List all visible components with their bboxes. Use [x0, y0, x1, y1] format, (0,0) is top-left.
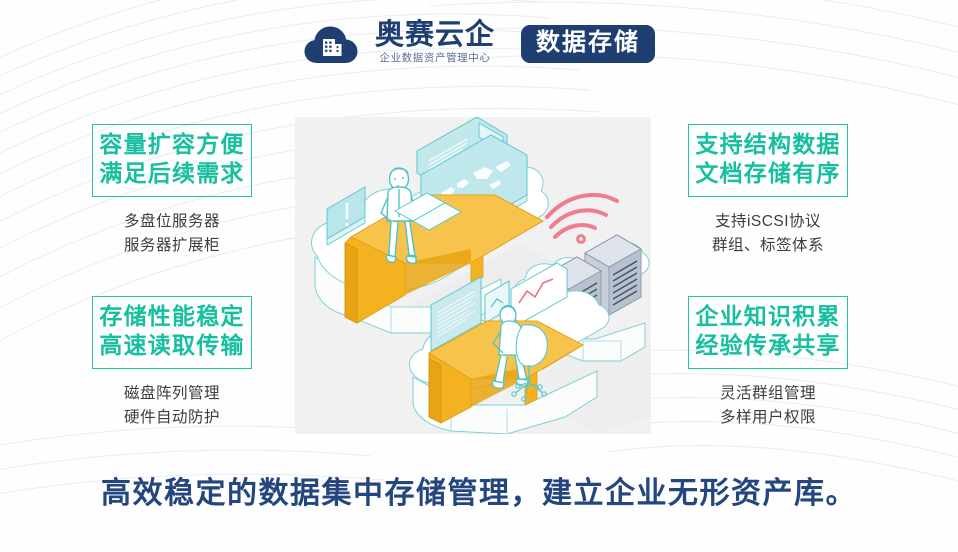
feature-storage-performance: 存储性能稳定 高速读取传输 磁盘阵列管理 硬件自动防护 [76, 296, 268, 431]
page-tagline: 高效稳定的数据集中存储管理，建立企业无形资产库。 [0, 468, 958, 512]
feature-headline-line-2: 满足后续需求 [99, 159, 244, 188]
brand-title: 奥赛云企 [375, 21, 495, 51]
feature-subtext: 灵活群组管理 多样用户权限 [672, 382, 864, 431]
feature-headline-line-2: 经验传承共享 [695, 331, 840, 360]
slide-canvas: 奥赛云企 企业数据资产管理中心 数据存储 容量扩容方便 满足后续需求 多盘位服务… [0, 0, 958, 552]
feature-subtext-line-1: 支持iSCSI协议 [672, 210, 864, 234]
feature-subtext: 支持iSCSI协议 群组、标签体系 [672, 210, 864, 259]
feature-headline-line-1: 支持结构数据 [695, 130, 840, 159]
feature-headline-line-2: 文档存储有序 [695, 159, 840, 188]
cloud-storage-illustration [295, 117, 651, 434]
feature-subtext: 磁盘阵列管理 硬件自动防护 [76, 382, 268, 431]
brand-subtitle: 企业数据资产管理中心 [379, 51, 490, 67]
brand-lockup: 奥赛云企 企业数据资产管理中心 [375, 21, 495, 67]
feature-subtext-line-1: 多盘位服务器 [76, 210, 268, 234]
feature-knowledge-accumulation: 企业知识积累 经验传承共享 灵活群组管理 多样用户权限 [672, 296, 864, 431]
feature-headline-line-1: 容量扩容方便 [99, 130, 244, 159]
feature-headline-line-1: 企业知识积累 [695, 302, 840, 331]
feature-subtext-line-2: 服务器扩展柜 [76, 234, 268, 258]
feature-capacity-expansion: 容量扩容方便 满足后续需求 多盘位服务器 服务器扩展柜 [76, 124, 268, 259]
feature-structured-data: 支持结构数据 文档存储有序 支持iSCSI协议 群组、标签体系 [672, 124, 864, 259]
feature-subtext-line-2: 群组、标签体系 [672, 234, 864, 258]
feature-subtext-line-1: 磁盘阵列管理 [76, 382, 268, 406]
cloud-building-icon [303, 23, 359, 65]
feature-subtext-line-2: 多样用户权限 [672, 406, 864, 430]
feature-subtext: 多盘位服务器 服务器扩展柜 [76, 210, 268, 259]
section-badge: 数据存储 [521, 25, 655, 64]
feature-headline-box: 容量扩容方便 满足后续需求 [92, 124, 251, 197]
feature-headline-box: 存储性能稳定 高速读取传输 [92, 296, 251, 369]
wifi-signal-icon [547, 195, 617, 242]
feature-subtext-line-2: 硬件自动防护 [76, 406, 268, 430]
feature-headline-box: 企业知识积累 经验传承共享 [688, 296, 847, 369]
feature-headline-line-1: 存储性能稳定 [99, 302, 244, 331]
feature-headline-line-2: 高速读取传输 [99, 331, 244, 360]
page-header: 奥赛云企 企业数据资产管理中心 数据存储 [0, 14, 958, 74]
feature-headline-box: 支持结构数据 文档存储有序 [688, 124, 847, 197]
feature-subtext-line-1: 灵活群组管理 [672, 382, 864, 406]
